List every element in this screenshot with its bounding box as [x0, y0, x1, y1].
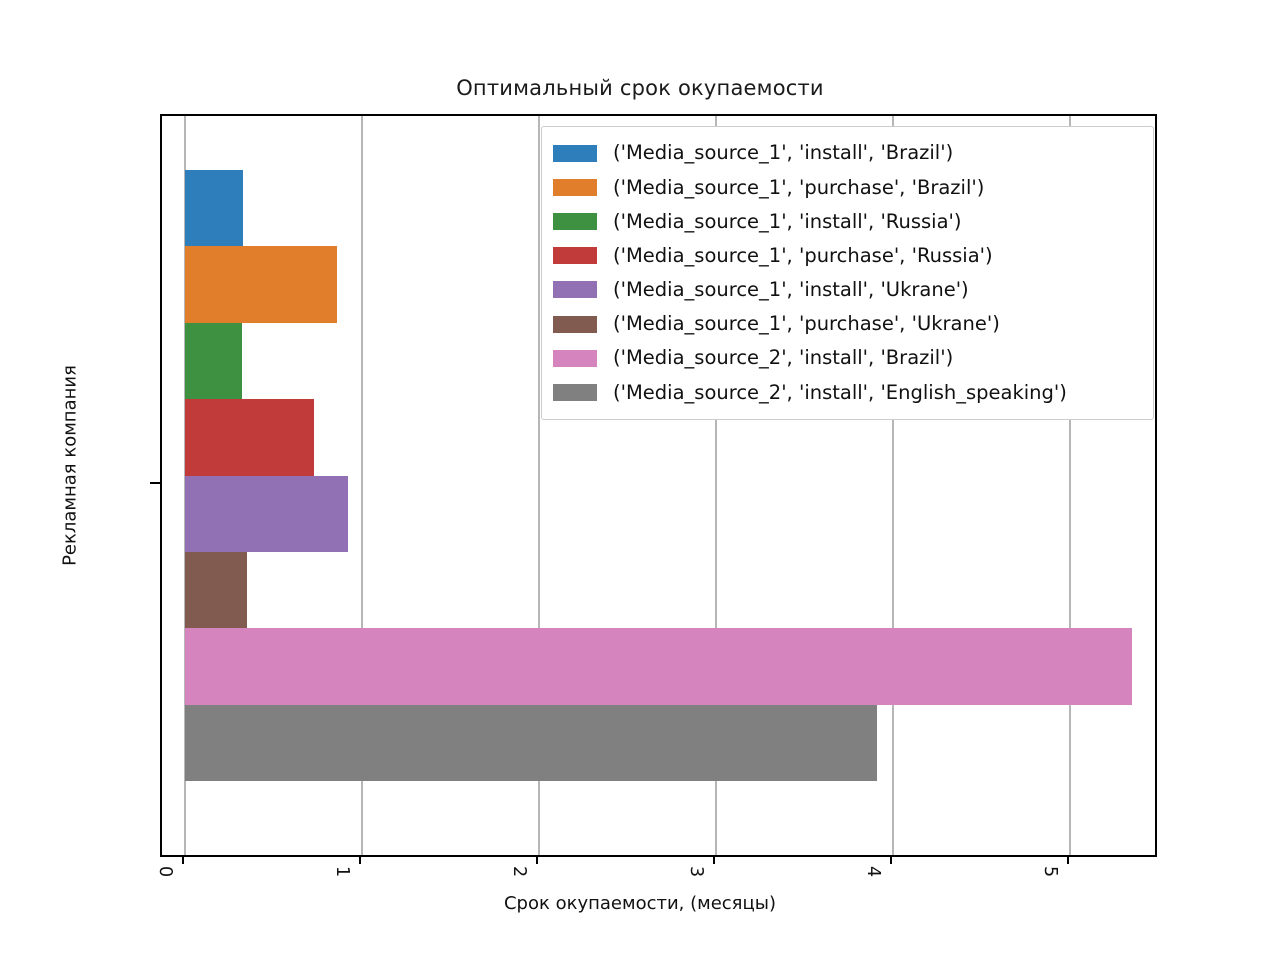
- bar-6: [185, 628, 1132, 704]
- legend-item-1[interactable]: ('Media_source_1', 'purchase', 'Brazil'): [553, 170, 1142, 204]
- legend-label-4: ('Media_source_1', 'install', 'Ukrane'): [613, 280, 969, 300]
- bar-2: [185, 323, 242, 399]
- legend-item-2[interactable]: ('Media_source_1', 'install', 'Russia'): [553, 204, 1142, 238]
- x-axis-tick-1: [359, 855, 361, 864]
- bar-3: [185, 399, 314, 475]
- y-axis-label: Рекламная компания: [60, 336, 81, 596]
- legend-label-5: ('Media_source_1', 'purchase', 'Ukrane'): [613, 314, 1000, 334]
- legend-swatch-icon-7: [553, 384, 597, 401]
- bar-7: [185, 705, 877, 781]
- legend-label-7: ('Media_source_2', 'install', 'English_s…: [613, 383, 1067, 403]
- bar-5: [185, 552, 247, 628]
- legend-item-6[interactable]: ('Media_source_2', 'install', 'Brazil'): [553, 341, 1142, 375]
- bar-1: [185, 246, 337, 322]
- x-axis-label: Срок окупаемости, (месяцы): [0, 893, 1280, 914]
- bar-4: [185, 476, 348, 552]
- x-axis-tick-2: [536, 855, 538, 864]
- legend-swatch-icon-6: [553, 350, 597, 367]
- x-axis-tick-3: [713, 855, 715, 864]
- legend-item-4[interactable]: ('Media_source_1', 'install', 'Ukrane'): [553, 273, 1142, 307]
- legend-swatch-icon-4: [553, 281, 597, 298]
- legend-swatch-icon-3: [553, 247, 597, 264]
- legend-swatch-icon-1: [553, 179, 597, 196]
- legend-item-3[interactable]: ('Media_source_1', 'purchase', 'Russia'): [553, 239, 1142, 273]
- x-axis-tick-5: [1067, 855, 1069, 864]
- legend-item-0[interactable]: ('Media_source_1', 'install', 'Brazil'): [553, 136, 1142, 170]
- x-axis-tick-0: [182, 855, 184, 864]
- legend-label-0: ('Media_source_1', 'install', 'Brazil'): [613, 143, 953, 163]
- legend-label-2: ('Media_source_1', 'install', 'Russia'): [613, 212, 962, 232]
- legend-label-1: ('Media_source_1', 'purchase', 'Brazil'): [613, 178, 984, 198]
- y-axis-tick: [150, 482, 160, 484]
- legend-swatch-icon-2: [553, 213, 597, 230]
- legend-swatch-icon-5: [553, 316, 597, 333]
- x-axis-tick-4: [890, 855, 892, 864]
- page-title: Оптимальный срок окупаемости: [0, 76, 1280, 100]
- matplotlib-figure: Оптимальный срок окупаемости 012345 Срок…: [0, 0, 1280, 960]
- legend-item-7[interactable]: ('Media_source_2', 'install', 'English_s…: [553, 375, 1142, 409]
- legend-item-5[interactable]: ('Media_source_1', 'purchase', 'Ukrane'): [553, 307, 1142, 341]
- legend[interactable]: ('Media_source_1', 'install', 'Brazil')(…: [541, 126, 1154, 420]
- legend-swatch-icon-0: [553, 145, 597, 162]
- bar-0: [185, 170, 243, 246]
- legend-label-3: ('Media_source_1', 'purchase', 'Russia'): [613, 246, 993, 266]
- legend-label-6: ('Media_source_2', 'install', 'Brazil'): [613, 348, 953, 368]
